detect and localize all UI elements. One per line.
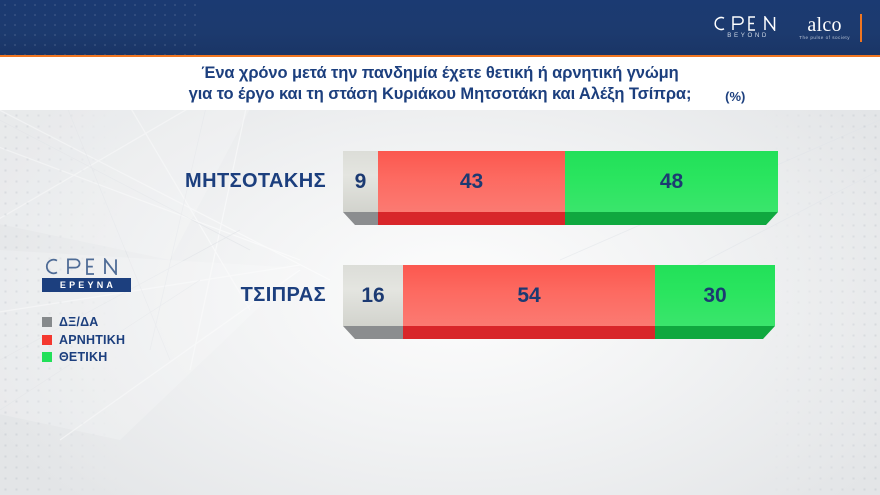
open-beyond-sublabel: BEYOND [727,33,769,39]
legend-label-positive: ΘΕΤΙΚΗ [59,351,107,364]
title-band: Ένα χρόνο μετά την πανδημία έχετε θετική… [0,57,880,110]
legend-item-negative[interactable]: ΑΡΝΗΤΙΚΗ [42,334,172,347]
bar-bevel-tsipras [343,326,788,339]
bar-segment-positive-mitsotakis[interactable]: 48 [565,151,778,212]
header-dot-pattern [0,0,200,55]
alco-accent-bar [860,14,862,42]
legend-item-positive[interactable]: ΘΕΤΙΚΗ [42,351,172,364]
title-line-2: για το έργο και τη στάση Κυριάκου Μητσοτ… [189,84,692,105]
legend-label-negative: ΑΡΝΗΤΙΚΗ [59,334,125,347]
bar-row-mitsotakis: ΜΗΤΣΟΤΑΚΗΣ 9 43 48 [150,151,778,212]
erevna-badge: ΕΡΕΥΝΑ [42,278,131,292]
bar-value-negative-mitsotakis: 43 [460,171,483,192]
bar-segment-dxda-mitsotakis[interactable]: 9 [343,151,378,212]
percent-unit-label: (%) [725,89,745,104]
open-letters-small-icon [42,258,128,275]
legend-swatch-negative [42,335,52,345]
bar-value-positive-tsipras: 30 [703,285,726,306]
bar-segment-positive-tsipras[interactable]: 30 [655,265,775,326]
stacked-bar-mitsotakis: 9 43 48 [343,151,778,212]
open-wordmark-icon [711,16,785,31]
bar-row-label-mitsotakis: ΜΗΤΣΟΤΑΚΗΣ [150,170,326,193]
header-bar: BEYOND alco The pulse of society [0,0,880,55]
open-wordmark-small-icon [42,258,128,275]
alco-wordmark: alco [807,15,842,35]
bar-value-positive-mitsotakis: 48 [660,171,683,192]
legend-swatch-positive [42,352,52,362]
open-beyond-logo: BEYOND [711,16,785,39]
bar-segment-negative-tsipras[interactable]: 54 [403,265,655,326]
poll-graphic: BEYOND alco The pulse of society Ένα χρό… [0,0,880,495]
bar-value-dxda-tsipras: 16 [361,285,384,306]
bar-row-label-tsipras: ΤΣΙΠΡΑΣ [150,284,326,307]
title-block: Ένα χρόνο μετά την πανδημία έχετε θετική… [189,63,692,105]
bar-value-dxda-mitsotakis: 9 [355,171,367,192]
title-line-1: Ένα χρόνο μετά την πανδημία έχετε θετική… [189,63,692,84]
header-logo-group: BEYOND alco The pulse of society [711,0,862,55]
bar-value-negative-tsipras: 54 [517,285,540,306]
legend-swatch-dxda [42,317,52,327]
bar-segment-negative-mitsotakis[interactable]: 43 [378,151,565,212]
alco-logo: alco The pulse of society [799,15,862,41]
alco-tagline: The pulse of society [799,36,850,41]
open-letters-icon [711,16,785,31]
legend-label-dxda: ΔΞ/ΔΑ [59,316,99,329]
bar-segment-dxda-tsipras[interactable]: 16 [343,265,403,326]
stacked-bar-tsipras: 16 54 30 [343,265,775,326]
bar-bevel-mitsotakis [343,212,791,225]
bar-row-tsipras: ΤΣΙΠΡΑΣ 16 54 30 [150,265,775,326]
